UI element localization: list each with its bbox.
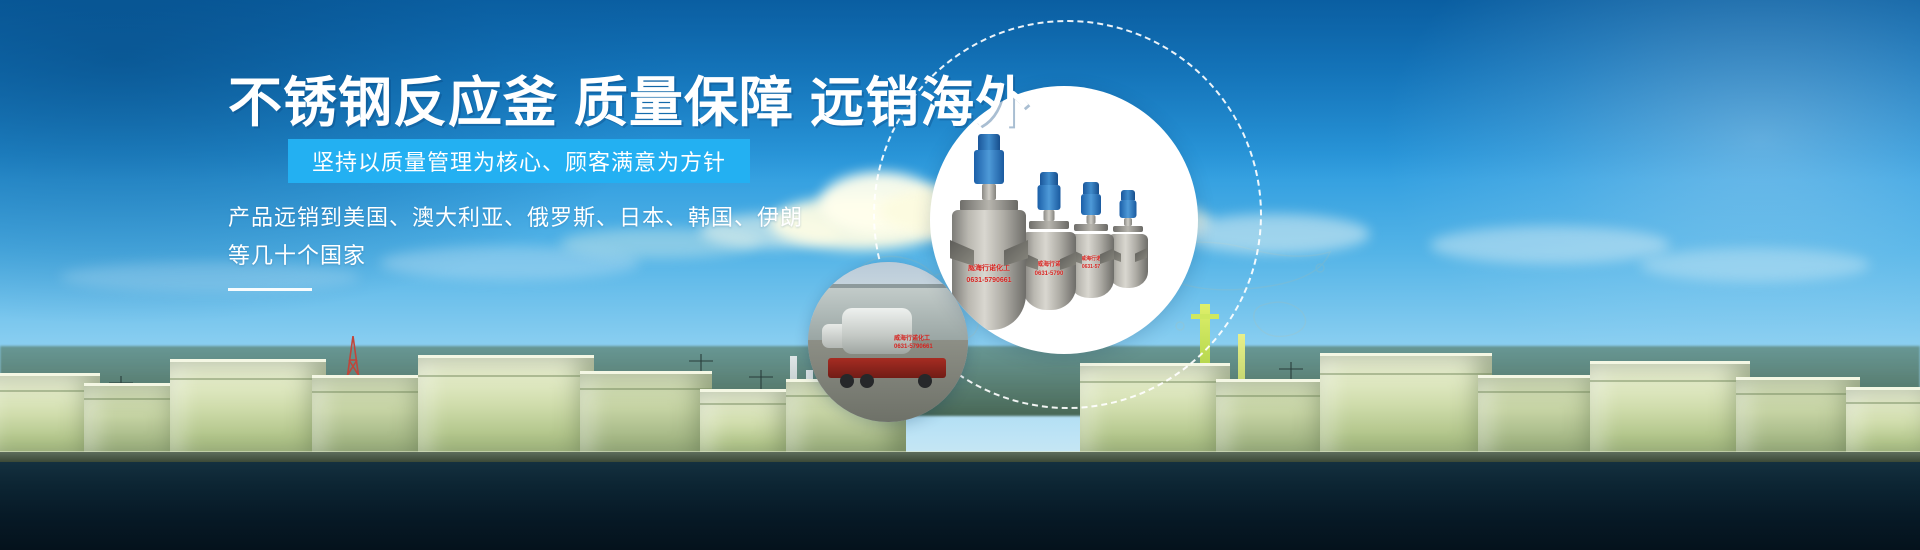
body-line-1: 产品远销到美国、澳大利亚、俄罗斯、日本、韩国、伊朗: [228, 200, 803, 238]
reactor-watermark-line2: 0631-57: [1082, 264, 1100, 270]
text-divider-rule: [228, 288, 312, 291]
reactor-vessel: [1108, 192, 1148, 288]
reactor-flange: [1029, 221, 1069, 229]
reactor-neck: [1124, 218, 1132, 226]
agitator-motor-cap: [1040, 172, 1058, 185]
headline-part-1: 不锈钢反应釜: [228, 71, 558, 134]
agitator-motor: [1038, 185, 1061, 210]
harbor-water: [0, 462, 1920, 550]
reactor-flange: [1113, 226, 1143, 232]
headline-part-2: 质量保障: [574, 71, 794, 134]
banner-body-text: 产品远销到美国、澳大利亚、俄罗斯、日本、韩国、伊朗 等几十个国家: [228, 200, 803, 276]
photo-wheel: [918, 374, 932, 388]
promo-banner: 威海行诺化工 0631-5790661 威海行诺: [0, 0, 1920, 550]
cloud: [1430, 226, 1670, 264]
banner-subtitle-text: 坚持以质量管理为核心、顾客满意为方针: [312, 145, 726, 177]
agitator-motor-cap: [1083, 182, 1099, 194]
agitator-motor: [974, 150, 1004, 184]
agitator-motor: [1120, 200, 1137, 218]
banner-headline: 不锈钢反应釜质量保障远销海外: [228, 74, 1030, 132]
reactor-neck: [1087, 215, 1096, 224]
storage-tank: [1216, 379, 1334, 462]
reactor-watermark-line1: 威海行诺: [1081, 256, 1101, 262]
reactor-body: [1108, 234, 1148, 288]
reactor-watermark-line1: 威海行诺化工: [968, 264, 1010, 273]
photo-watermark-line1: 威海行诺化工: [894, 336, 930, 343]
body-line-2: 等几十个国家: [228, 238, 803, 276]
storage-tank: [170, 359, 326, 462]
reactor-vessel: 威海行诺化工 0631-5790661: [952, 134, 1026, 330]
photo-wheel: [860, 374, 874, 388]
photo-watermark-line2: 0631-5790661: [894, 344, 933, 351]
banner-subtitle-bar: 坚持以质量管理为核心、顾客满意为方针: [288, 139, 750, 183]
storage-tank: [312, 375, 432, 462]
reactor-neck: [982, 184, 996, 200]
photo-wheel: [840, 374, 854, 388]
reactor-neck: [1044, 210, 1055, 221]
reactor-watermark-line2: 0631-5790661: [966, 276, 1011, 285]
storage-tank: [418, 355, 594, 462]
reactor-flange: [1074, 224, 1108, 231]
storage-tank: [1478, 375, 1604, 462]
reactor-vessel: 威海行诺 0631-5790: [1022, 178, 1076, 310]
storage-tank: [1736, 377, 1860, 462]
storage-tank: [1320, 353, 1492, 462]
agitator-motor-cap: [978, 134, 1000, 150]
reactor-watermark-line2: 0631-5790: [1035, 271, 1064, 278]
agitator-motor-cap: [1121, 190, 1135, 200]
storage-tank: [1590, 361, 1750, 462]
storage-tank: [580, 371, 712, 462]
agitator-motor: [1081, 194, 1101, 215]
headline-part-3: 远销海外: [810, 71, 1030, 134]
cloud: [1640, 248, 1870, 282]
reactor-watermark-line1: 威海行诺: [1037, 262, 1061, 269]
